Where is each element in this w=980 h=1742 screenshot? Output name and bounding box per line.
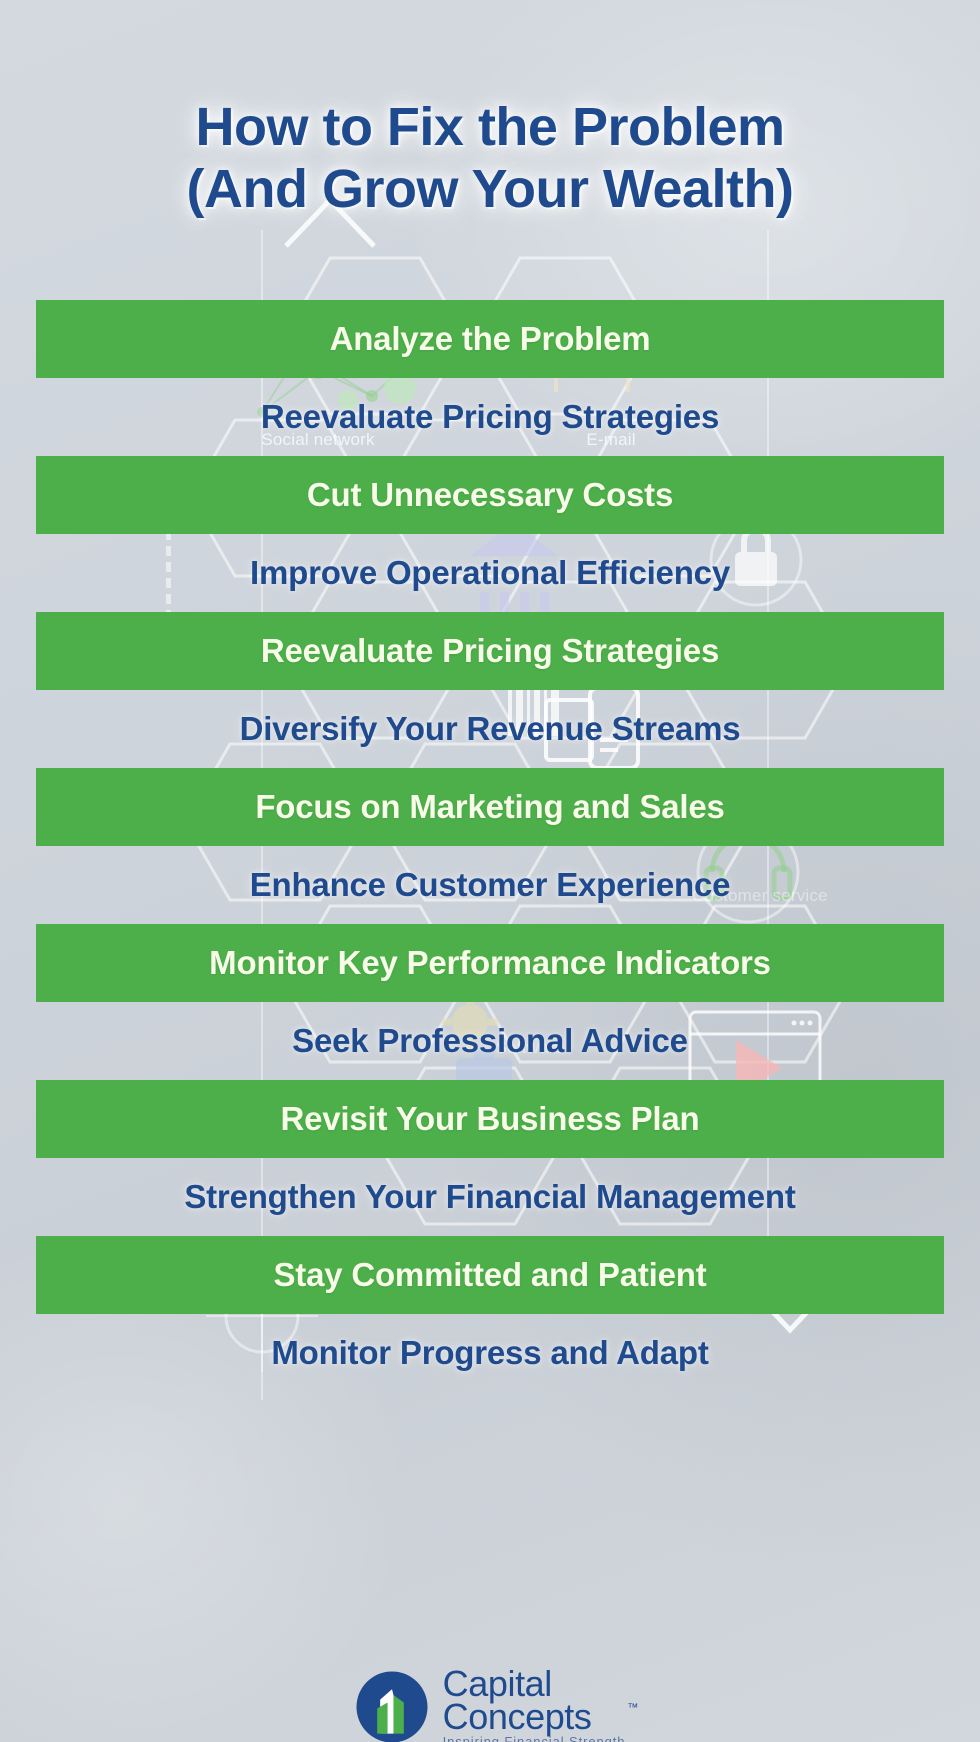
step-label: Stay Committed and Patient (273, 1258, 706, 1293)
step-label: Strengthen Your Financial Management (184, 1180, 795, 1215)
page-title-line-2: (And Grow Your Wealth) (0, 158, 980, 220)
step-label: Enhance Customer Experience (250, 868, 731, 903)
step-label: Improve Operational Efficiency (250, 556, 730, 591)
page-title: How to Fix the Problem (And Grow Your We… (0, 96, 980, 220)
step-label: Revisit Your Business Plan (280, 1102, 699, 1137)
capital-concepts-mark-icon (355, 1670, 429, 1742)
step-row-5[interactable]: Reevaluate Pricing Strategies (36, 612, 944, 690)
step-row-3[interactable]: Cut Unnecessary Costs (36, 456, 944, 534)
step-label: Diversify Your Revenue Streams (240, 712, 741, 747)
step-row-14[interactable]: Monitor Progress and Adapt (0, 1314, 980, 1392)
page-title-line-1: How to Fix the Problem (0, 96, 980, 158)
step-row-9[interactable]: Monitor Key Performance Indicators (36, 924, 944, 1002)
step-label: Analyze the Problem (330, 322, 651, 357)
step-label: Monitor Progress and Adapt (271, 1336, 708, 1371)
step-label: Reevaluate Pricing Strategies (261, 634, 719, 669)
brand-logo: Capital Concepts ™ Inspiring Financial S… (0, 1667, 980, 1742)
step-row-8[interactable]: Enhance Customer Experience (0, 846, 980, 924)
step-label: Cut Unnecessary Costs (307, 478, 673, 513)
step-row-13[interactable]: Stay Committed and Patient (36, 1236, 944, 1314)
step-row-1[interactable]: Analyze the Problem (36, 300, 944, 378)
step-row-10[interactable]: Seek Professional Advice (0, 1002, 980, 1080)
step-row-6[interactable]: Diversify Your Revenue Streams (0, 690, 980, 768)
step-row-11[interactable]: Revisit Your Business Plan (36, 1080, 944, 1158)
step-label: Seek Professional Advice (292, 1024, 688, 1059)
brand-wordmark: Capital Concepts ™ Inspiring Financial S… (443, 1667, 626, 1742)
step-row-4[interactable]: Improve Operational Efficiency (0, 534, 980, 612)
infographic-page: Social network E-mail Customer service S… (0, 0, 980, 1742)
step-label: Monitor Key Performance Indicators (209, 946, 771, 981)
brand-line-1: Capital (443, 1667, 626, 1700)
step-label: Focus on Marketing and Sales (255, 790, 724, 825)
step-label: Reevaluate Pricing Strategies (261, 400, 719, 435)
brand-tagline: Inspiring Financial Strength (443, 1736, 626, 1742)
steps-list: Analyze the Problem Reevaluate Pricing S… (0, 300, 980, 1392)
trademark-symbol: ™ (627, 1703, 638, 1713)
step-row-2[interactable]: Reevaluate Pricing Strategies (0, 378, 980, 456)
step-row-7[interactable]: Focus on Marketing and Sales (36, 768, 944, 846)
brand-line-2: Concepts (443, 1700, 626, 1733)
step-row-12[interactable]: Strengthen Your Financial Management (0, 1158, 980, 1236)
